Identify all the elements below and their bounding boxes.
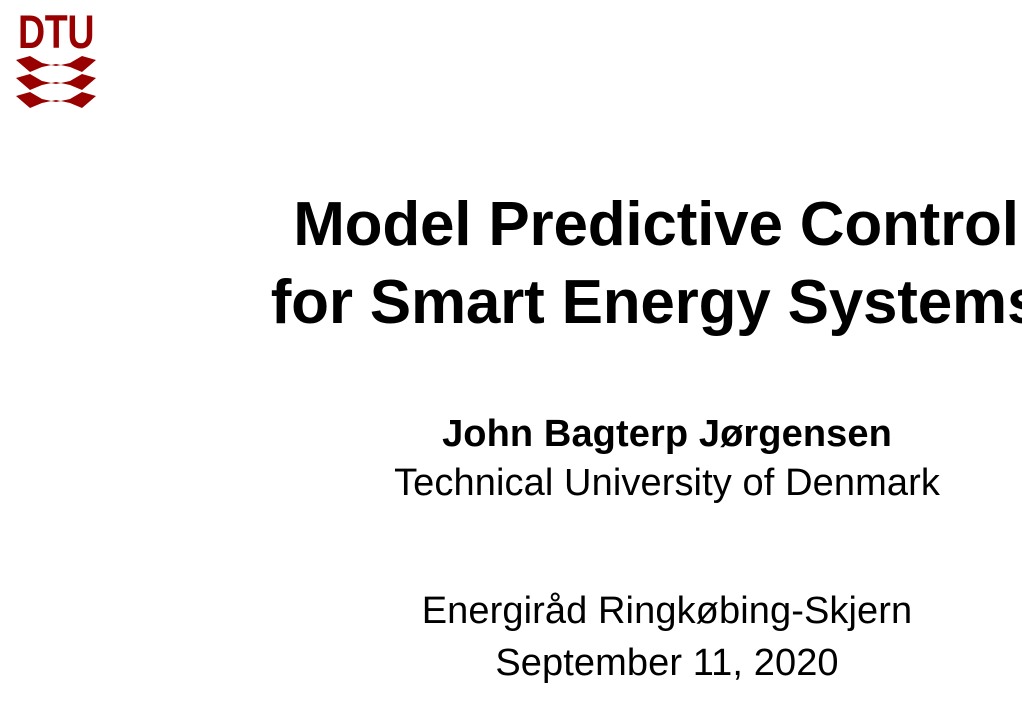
slide-title-line-2: for Smart Energy Systems: [0, 264, 1022, 342]
event-date: September 11, 2020: [0, 637, 1022, 689]
event-name: Energiråd Ringkøbing-Skjern: [0, 585, 1022, 637]
dtu-logo: DTU: [16, 8, 112, 112]
event-info: Energiråd Ringkøbing-Skjern September 11…: [0, 585, 1022, 689]
byline: John Bagterp Jørgensen Technical Univers…: [0, 410, 1022, 508]
author-affiliation: Technical University of Denmark: [0, 458, 1022, 508]
dtu-wordmark: DTU: [18, 8, 94, 55]
title-slide: DTU Model Predictive Control for Smart E…: [0, 0, 1022, 707]
dtu-wave-icon: [16, 56, 96, 110]
author-name: John Bagterp Jørgensen: [0, 410, 1022, 458]
slide-title-line-1: Model Predictive Control: [0, 186, 1022, 264]
slide-title: Model Predictive Control for Smart Energ…: [0, 186, 1022, 342]
